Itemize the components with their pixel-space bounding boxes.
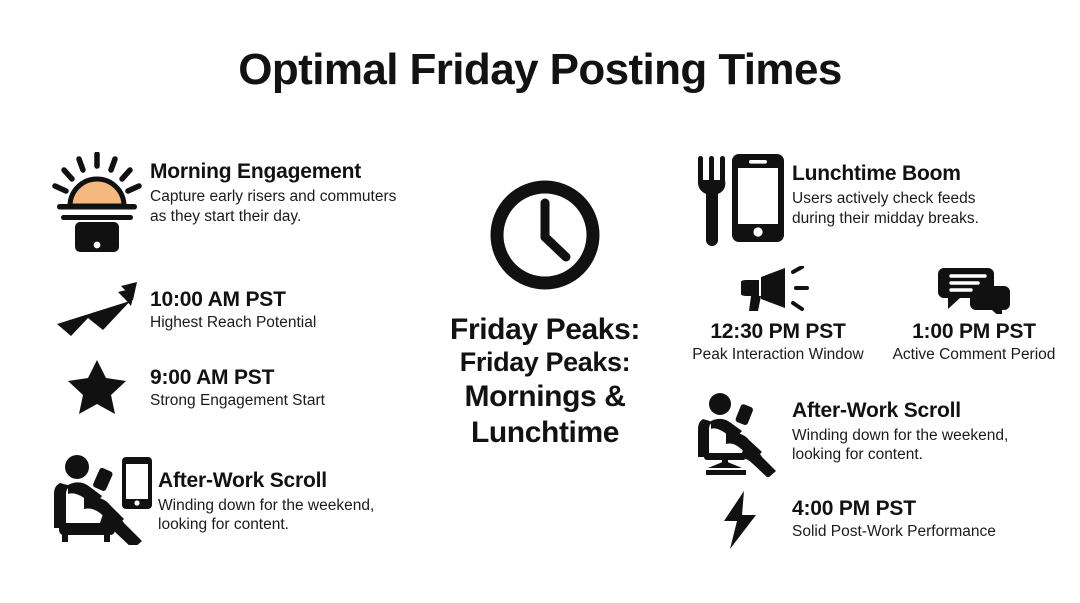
center-line-1: Friday Peaks: (420, 312, 670, 347)
sunrise-phone-icon (44, 148, 150, 256)
after-work-scroll-right-body: Winding down for the weekend, looking fo… (792, 426, 1032, 465)
center-line-3: Mornings & (420, 379, 670, 414)
list-item-after-work-scroll-left: After-Work Scroll Winding down for the w… (44, 445, 444, 545)
speech-bubbles-icon (884, 268, 1064, 314)
after-work-scroll-right-heading: After-Work Scroll (792, 399, 1064, 423)
after-work-scroll-right-text: After-Work Scroll Winding down for the w… (792, 391, 1064, 465)
morning-engagement-text: Morning Engagement Capture early risers … (150, 148, 444, 226)
lightning-bolt-icon (688, 489, 792, 551)
left-column: Morning Engagement Capture early risers … (44, 148, 444, 545)
morning-engagement-heading: Morning Engagement (150, 160, 444, 184)
one-pm-sub: Active Comment Period (884, 345, 1064, 364)
star-icon (44, 360, 150, 410)
four-pm-sub: Solid Post-Work Performance (792, 522, 1064, 541)
center-headline: Friday Peaks: Friday Peaks: Mornings & L… (420, 312, 670, 450)
lunchtime-boom-text: Lunchtime Boom Users actively check feed… (792, 148, 1064, 228)
page-title: Optimal Friday Posting Times (0, 46, 1080, 94)
right-column: Lunchtime Boom Users actively check feed… (688, 148, 1064, 551)
list-item-one-pm: 1:00 PM PST Active Comment Period (884, 268, 1064, 365)
after-work-scroll-left-text: After-Work Scroll Winding down for the w… (158, 445, 444, 535)
ten-am-sub: Highest Reach Potential (150, 313, 444, 332)
four-pm-text: 4:00 PM PST Solid Post-Work Performance (792, 489, 1064, 542)
lunchtime-boom-heading: Lunchtime Boom (792, 162, 1064, 186)
infographic-canvas: Optimal Friday Posting Times (0, 0, 1080, 603)
fork-phone-icon (688, 148, 792, 248)
morning-engagement-body: Capture early risers and commuters as th… (150, 187, 400, 226)
twelve-thirty-pm-sub: Peak Interaction Window (688, 345, 868, 364)
after-work-scroll-left-body: Winding down for the weekend, looking fo… (158, 496, 406, 535)
list-item-ten-am: 10:00 AM PST Highest Reach Potential (44, 278, 444, 340)
center-line-4: Lunchtime (420, 415, 670, 450)
after-work-scroll-left-heading: After-Work Scroll (158, 469, 444, 493)
megaphone-icon (688, 268, 868, 314)
clock-icon (420, 176, 670, 294)
four-pm-time: 4:00 PM PST (792, 497, 1064, 521)
list-item-nine-am: 9:00 AM PST Strong Engagement Start (44, 360, 444, 411)
lunchtime-boom-body: Users actively check feeds during their … (792, 189, 1010, 228)
ten-am-text: 10:00 AM PST Highest Reach Potential (150, 278, 444, 333)
list-item-four-pm: 4:00 PM PST Solid Post-Work Performance (688, 489, 1064, 551)
trending-up-arrow-icon (44, 278, 150, 340)
nine-am-time: 9:00 AM PST (150, 366, 444, 390)
list-item-morning-engagement: Morning Engagement Capture early risers … (44, 148, 444, 256)
twelve-thirty-pm-time: 12:30 PM PST (688, 320, 868, 344)
center-column: Friday Peaks: Friday Peaks: Mornings & L… (420, 176, 670, 450)
person-office-chair-phone-icon (688, 391, 792, 477)
list-item-after-work-scroll-right: After-Work Scroll Winding down for the w… (688, 391, 1064, 477)
nine-am-sub: Strong Engagement Start (150, 391, 444, 410)
peak-times-row: 12:30 PM PST Peak Interaction Window (688, 268, 1064, 365)
list-item-lunchtime-boom: Lunchtime Boom Users actively check feed… (688, 148, 1064, 248)
person-recliner-phone-icon (44, 445, 158, 545)
list-item-twelve-thirty-pm: 12:30 PM PST Peak Interaction Window (688, 268, 868, 365)
nine-am-text: 9:00 AM PST Strong Engagement Start (150, 360, 444, 411)
one-pm-time: 1:00 PM PST (884, 320, 1064, 344)
center-line-2: Friday Peaks: (420, 347, 670, 379)
ten-am-time: 10:00 AM PST (150, 288, 444, 312)
